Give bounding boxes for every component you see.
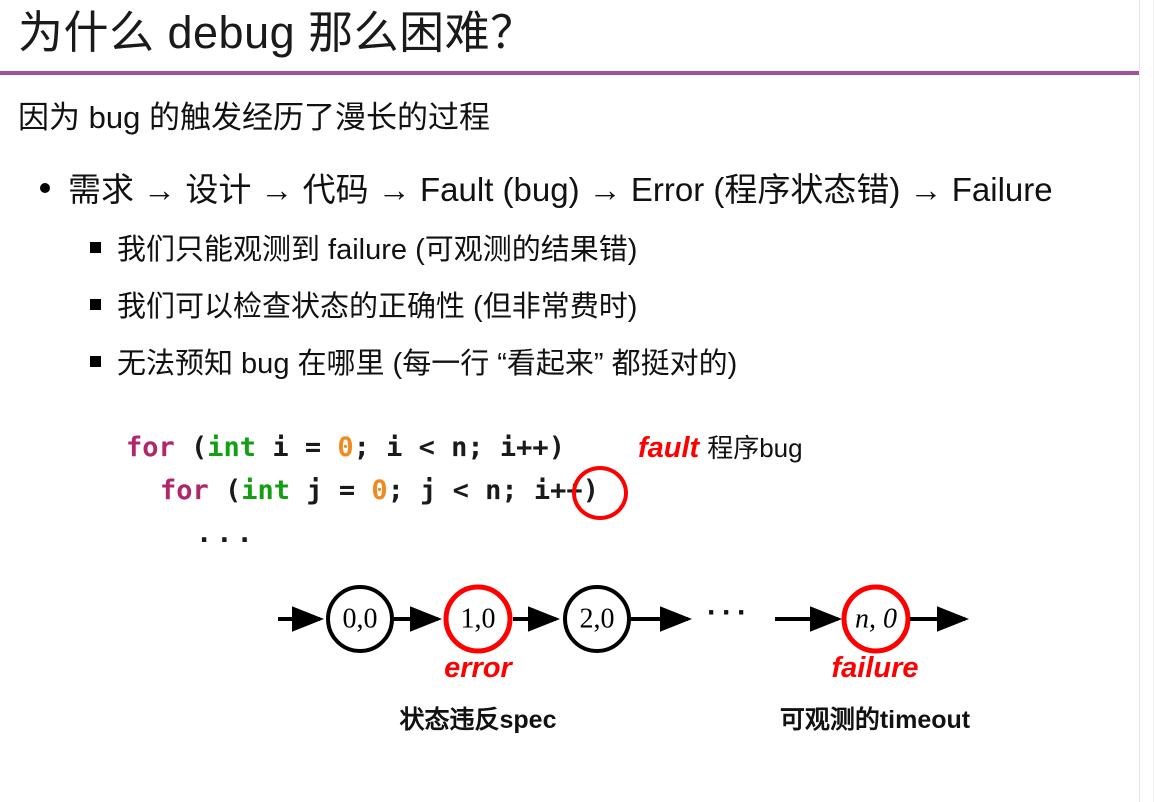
code-text: i = <box>256 432 337 463</box>
bullet-square-icon <box>90 299 101 310</box>
bullet-level2-unknown-bug: 无法预知 bug 在哪里 (每一行 “看起来” 都挺对的) <box>90 345 737 383</box>
code-type-int: int <box>207 432 256 463</box>
bullet-level2-check-state: 我们可以检查状态的正确性 (但非常费时) <box>90 288 637 326</box>
code-punct: ( <box>209 475 242 506</box>
title-underline-rule <box>0 71 1139 75</box>
code-text: ; i < n; i++) <box>354 432 565 463</box>
bullet-level1-label: 需求 → 设计 → 代码 → Fault (bug) → Error (程序状态… <box>68 168 1053 212</box>
code-keyword-for: for <box>126 432 175 463</box>
code-number-zero: 0 <box>371 475 387 506</box>
fault-caption: 程序bug <box>707 433 802 463</box>
bullet-level2-observe-failure: 我们只能观测到 failure (可观测的结果错) <box>90 231 637 269</box>
bullet-dot-icon <box>40 183 50 193</box>
slide-canvas: 为什么 debug 那么困难？ 因为 bug 的触发经历了漫长的过程 需求 → … <box>0 0 1154 802</box>
diagram-ellipsis: ··· <box>707 596 752 630</box>
lead-paragraph: 因为 bug 的触发经历了漫长的过程 <box>18 98 490 138</box>
bullet-square-icon <box>90 356 101 367</box>
code-text: ; j < n; i++) <box>388 475 599 506</box>
bullet-level2-label: 我们可以检查状态的正确性 (但非常费时) <box>117 288 637 326</box>
bullet-square-icon <box>90 242 101 253</box>
page-title: 为什么 debug 那么困难？ <box>18 4 536 62</box>
code-line-ellipsis: ... <box>196 516 257 552</box>
code-number-zero: 0 <box>337 432 353 463</box>
code-line-inner-for: for (int j = 0; j < n; i++) <box>160 473 599 509</box>
svg-text:2,0: 2,0 <box>580 604 615 635</box>
svg-text:n, 0: n, 0 <box>855 604 897 635</box>
bullet-level1: 需求 → 设计 → 代码 → Fault (bug) → Error (程序状态… <box>40 168 1053 212</box>
error-caption: 状态违反spec <box>383 700 573 736</box>
code-punct: ( <box>175 432 208 463</box>
fault-label: fault <box>638 432 699 464</box>
code-keyword-for: for <box>160 475 209 506</box>
error-label: error <box>408 652 548 685</box>
code-text: j = <box>290 475 371 506</box>
code-line-outer-for: for (int i = 0; i < n; i++) <box>126 430 565 466</box>
svg-text:1,0: 1,0 <box>461 604 496 635</box>
svg-text:0,0: 0,0 <box>343 604 378 635</box>
code-type-int: int <box>241 475 290 506</box>
bullet-level2-label: 无法预知 bug 在哪里 (每一行 “看起来” 都挺对的) <box>117 345 737 383</box>
failure-caption: 可观测的timeout <box>765 700 985 736</box>
failure-label: failure <box>800 652 950 685</box>
fault-annotation: fault程序bug <box>638 430 803 466</box>
bug-highlight-ellipse-icon <box>572 466 628 520</box>
bullet-level2-label: 我们只能观测到 failure (可观测的结果错) <box>117 231 637 269</box>
